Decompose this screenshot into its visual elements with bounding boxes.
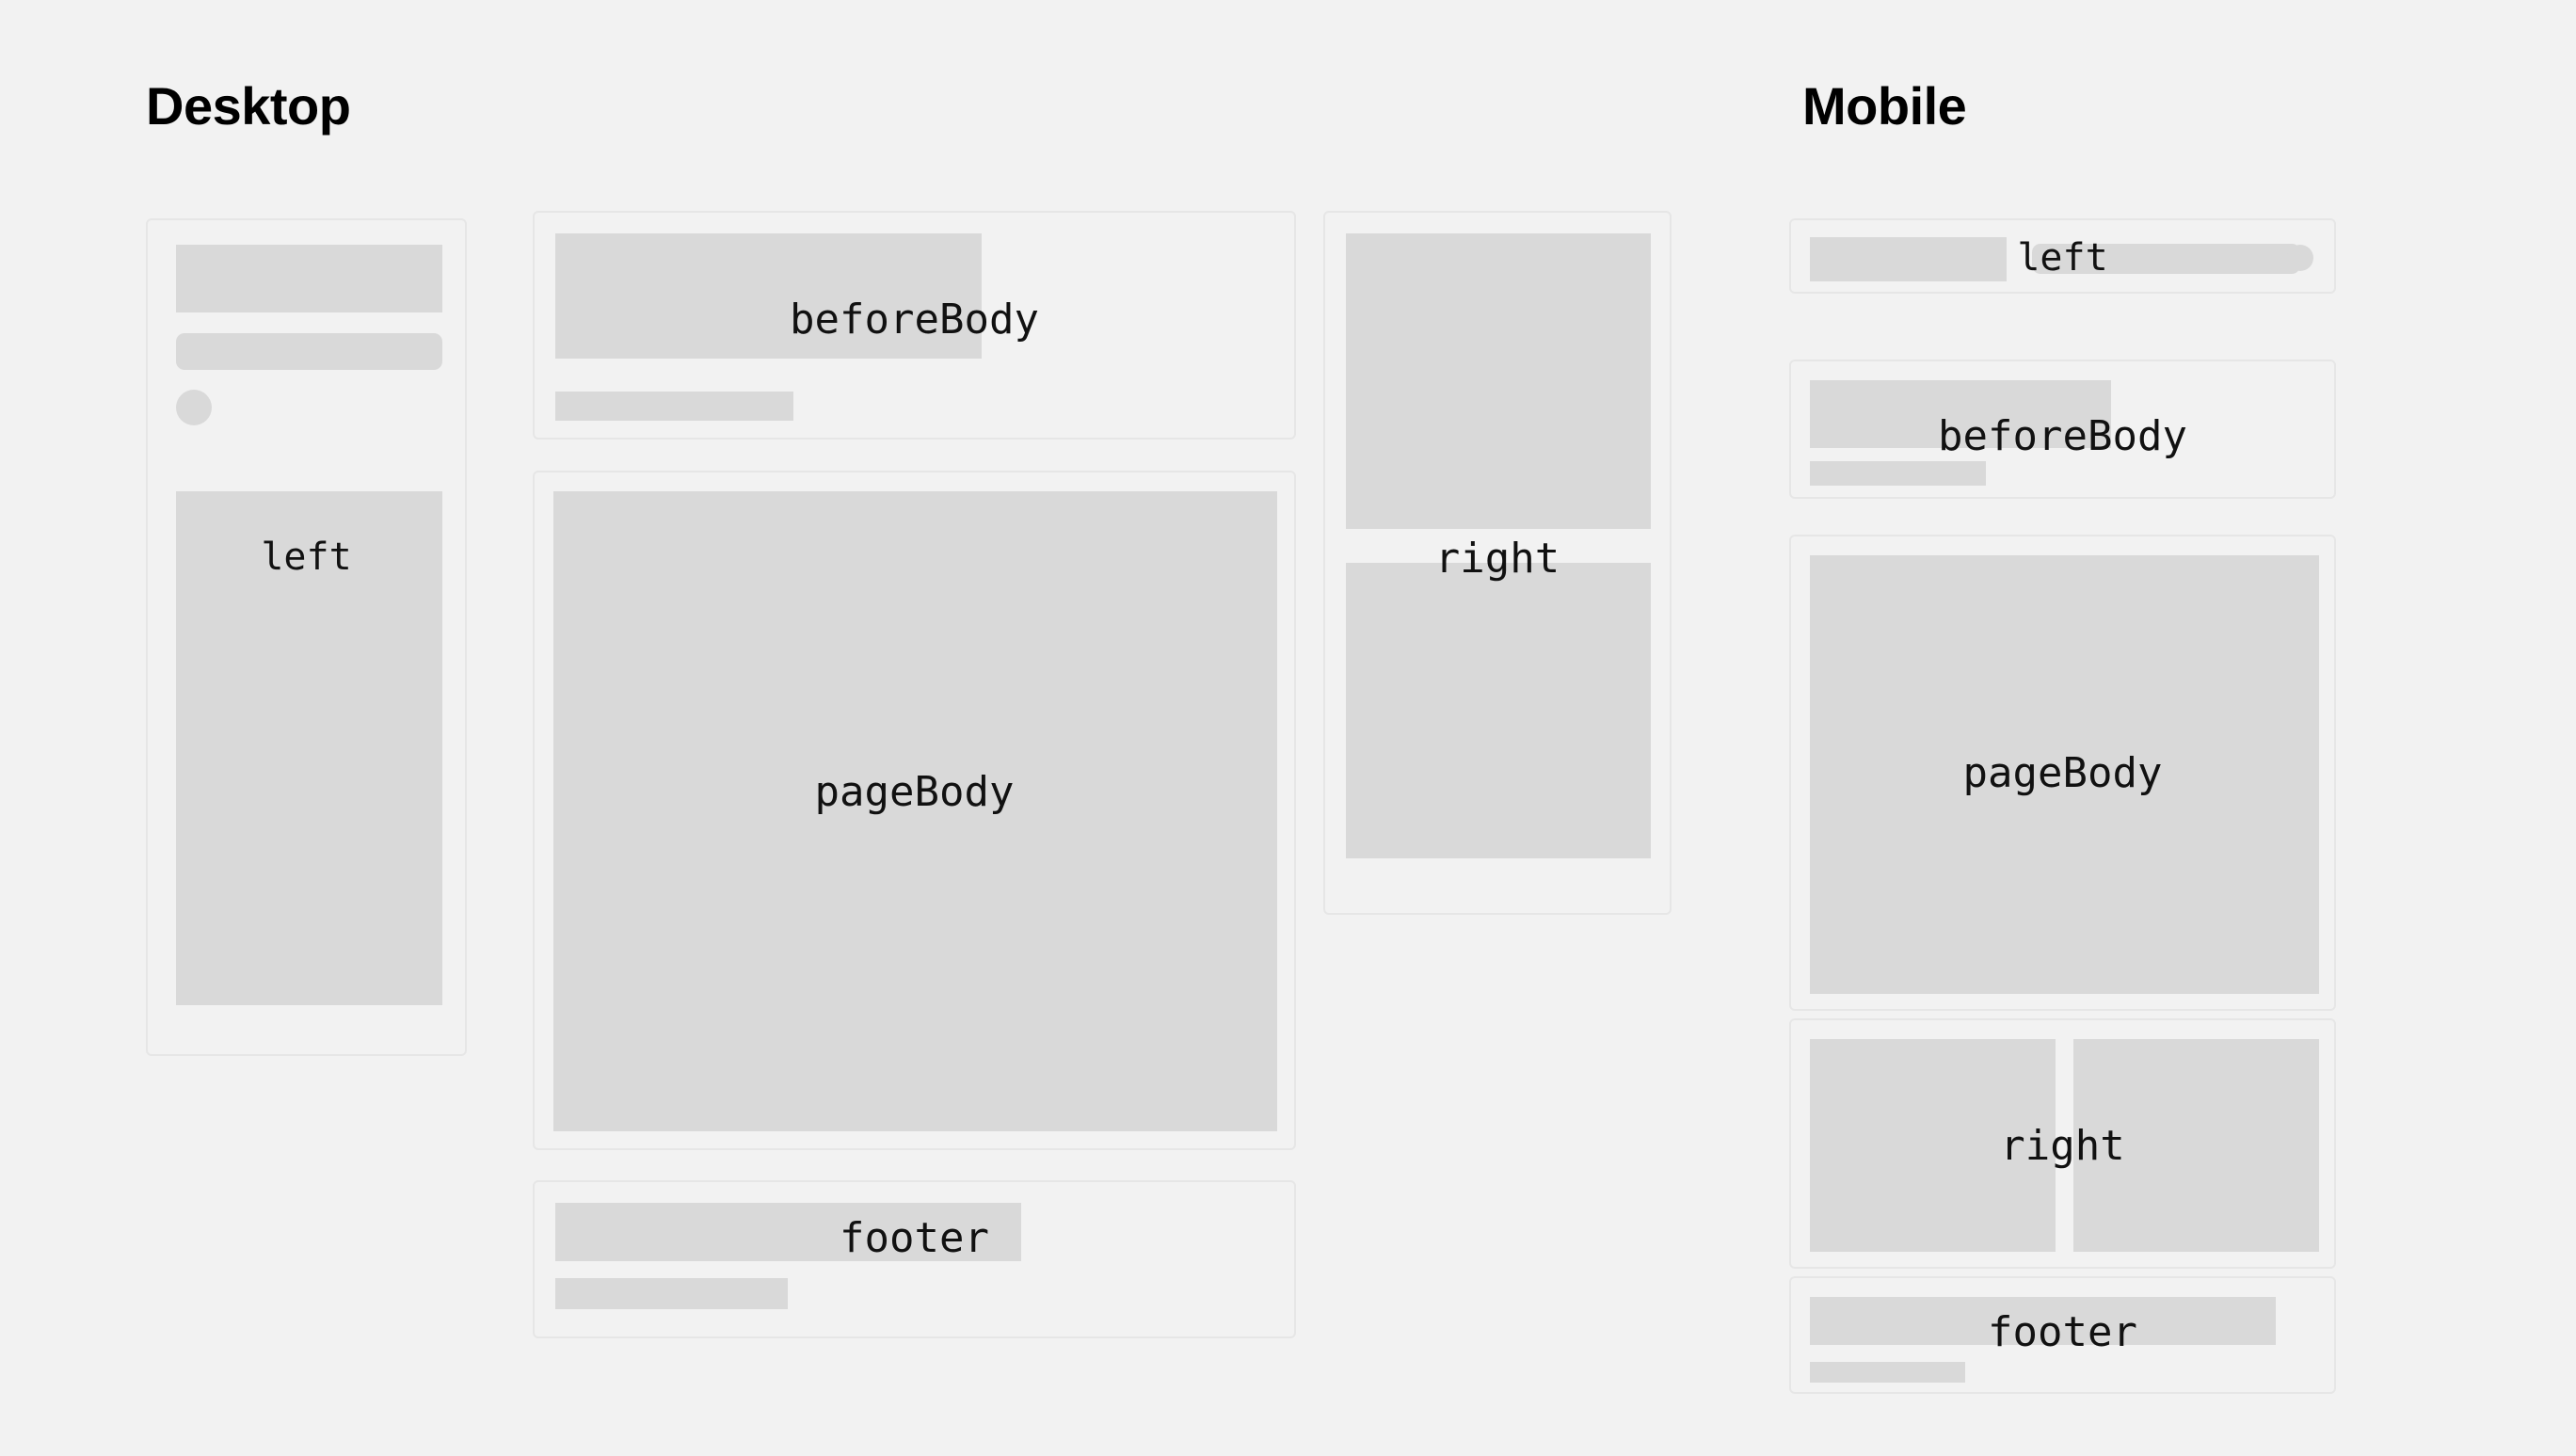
desktop-before-body-card[interactable] <box>533 211 1296 440</box>
mobile-right-card[interactable] <box>1789 1018 2336 1269</box>
desktop-right-upper-block <box>1346 233 1651 529</box>
mobile-left-card[interactable] <box>1789 218 2336 294</box>
mobile-right-right-block <box>2073 1039 2319 1252</box>
desktop-left-header-block <box>176 245 442 312</box>
desktop-right-lower-block <box>1346 563 1651 858</box>
mobile-before-body-wide-block <box>1810 380 2111 448</box>
mobile-left-subheader-bar <box>2032 244 2300 274</box>
mobile-left-header-block <box>1810 237 2007 281</box>
desktop-before-body-wide-block <box>555 233 982 359</box>
desktop-footer-short-bar <box>555 1278 788 1309</box>
mobile-right-left-block <box>1810 1039 2056 1252</box>
desktop-left-avatar-circle <box>176 390 212 425</box>
mobile-section-title: Mobile <box>1802 80 1966 133</box>
mobile-page-body-card[interactable] <box>1789 535 2336 1011</box>
mobile-before-body-card[interactable] <box>1789 360 2336 499</box>
desktop-before-body-short-bar <box>555 392 793 421</box>
wireframe-stage: Desktop left beforeBody pageBody footer … <box>0 0 2576 1456</box>
mobile-footer-short-bar <box>1810 1362 1965 1383</box>
mobile-footer-card[interactable] <box>1789 1276 2336 1394</box>
desktop-footer-wide-bar <box>555 1203 1021 1261</box>
desktop-right-card[interactable] <box>1323 211 1672 915</box>
desktop-left-subheader-bar <box>176 333 442 370</box>
desktop-left-card[interactable] <box>146 218 467 1056</box>
mobile-footer-wide-bar <box>1810 1297 2276 1345</box>
mobile-left-avatar-circle <box>2287 245 2313 271</box>
desktop-page-body-card[interactable] <box>533 471 1296 1150</box>
desktop-footer-card[interactable] <box>533 1180 1296 1338</box>
desktop-section-title: Desktop <box>146 80 350 133</box>
mobile-before-body-short-bar <box>1810 461 1986 486</box>
desktop-page-body-main-block <box>553 491 1277 1131</box>
desktop-left-panel-block <box>176 491 442 1005</box>
mobile-page-body-main-block <box>1810 555 2319 994</box>
